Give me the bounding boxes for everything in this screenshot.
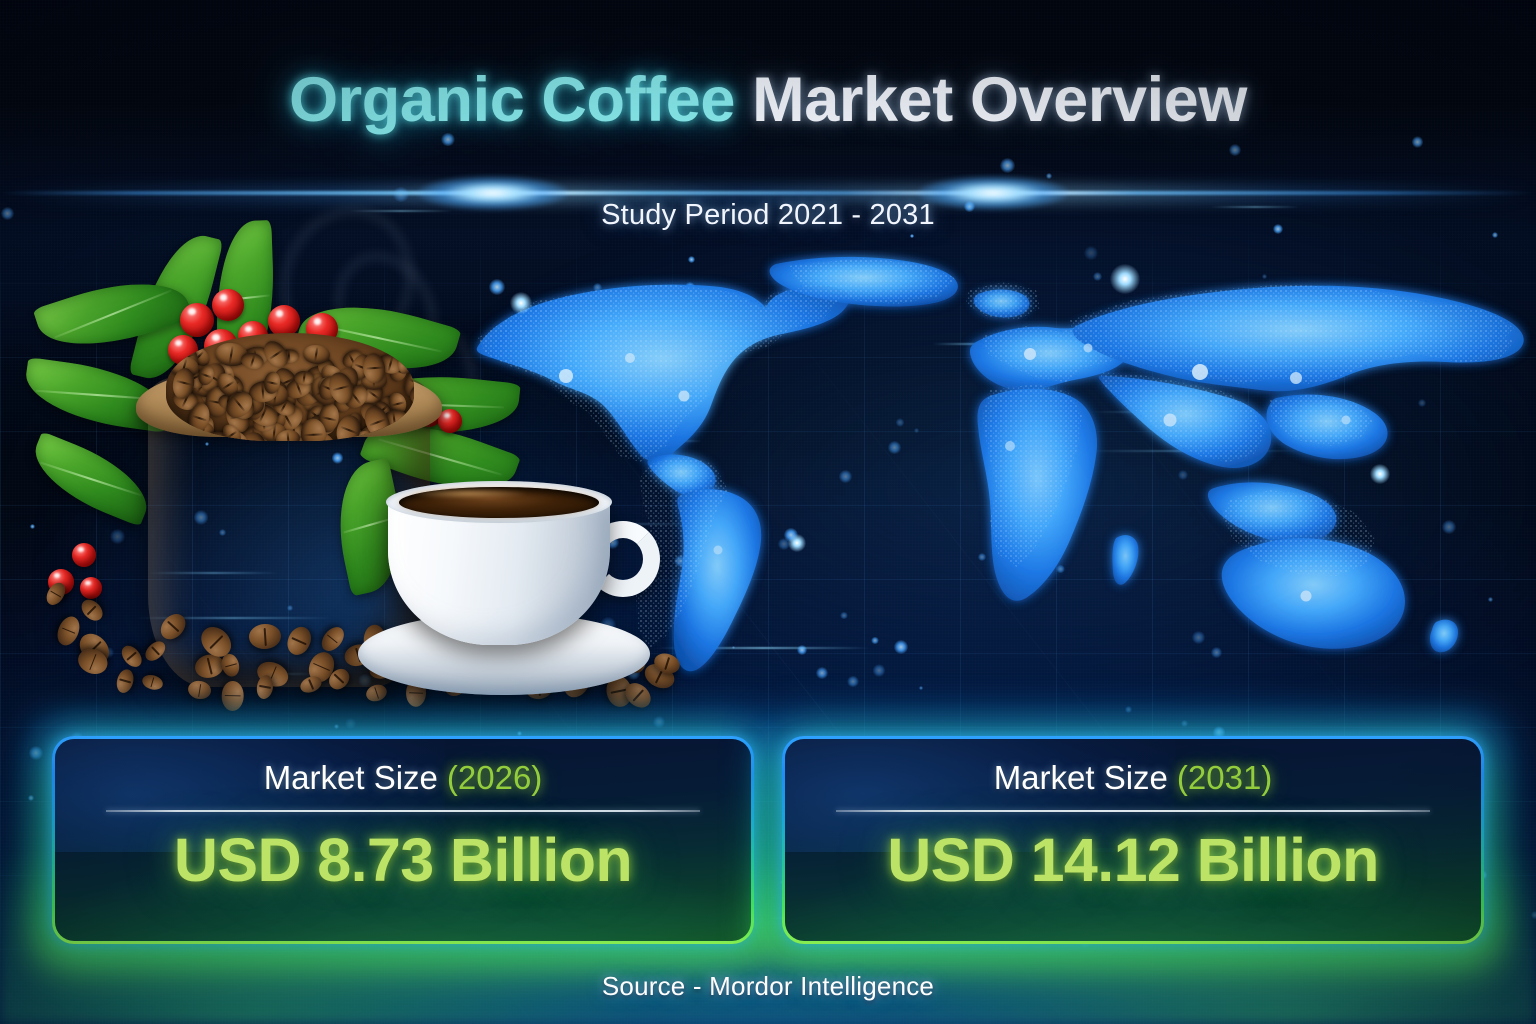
infographic-canvas: Organic Coffee Market Overview Study Per… bbox=[0, 0, 1536, 1024]
card-content-2026: Market Size(2026) USD 8.73 Billion bbox=[52, 736, 754, 944]
card-value-2026: USD 8.73 Billion bbox=[174, 825, 632, 895]
card-year-2031: (2031) bbox=[1177, 759, 1272, 796]
market-size-card-2026[interactable]: Market Size(2026) USD 8.73 Billion bbox=[52, 736, 754, 944]
card-year-2026: (2026) bbox=[447, 759, 542, 796]
card-content-2031: Market Size(2031) USD 14.12 Billion bbox=[782, 736, 1484, 944]
card-divider-2026 bbox=[106, 810, 699, 812]
card-value-2031: USD 14.12 Billion bbox=[887, 825, 1379, 895]
card-label-2031: Market Size(2031) bbox=[994, 759, 1273, 797]
card-label-2026: Market Size(2026) bbox=[264, 759, 543, 797]
card-divider-2031 bbox=[836, 810, 1429, 812]
card-label-text-2031: Market Size bbox=[994, 759, 1168, 796]
card-label-text-2026: Market Size bbox=[264, 759, 438, 796]
source-attribution: Source - Mordor Intelligence bbox=[0, 971, 1536, 1002]
market-size-card-2031[interactable]: Market Size(2031) USD 14.12 Billion bbox=[782, 736, 1484, 944]
